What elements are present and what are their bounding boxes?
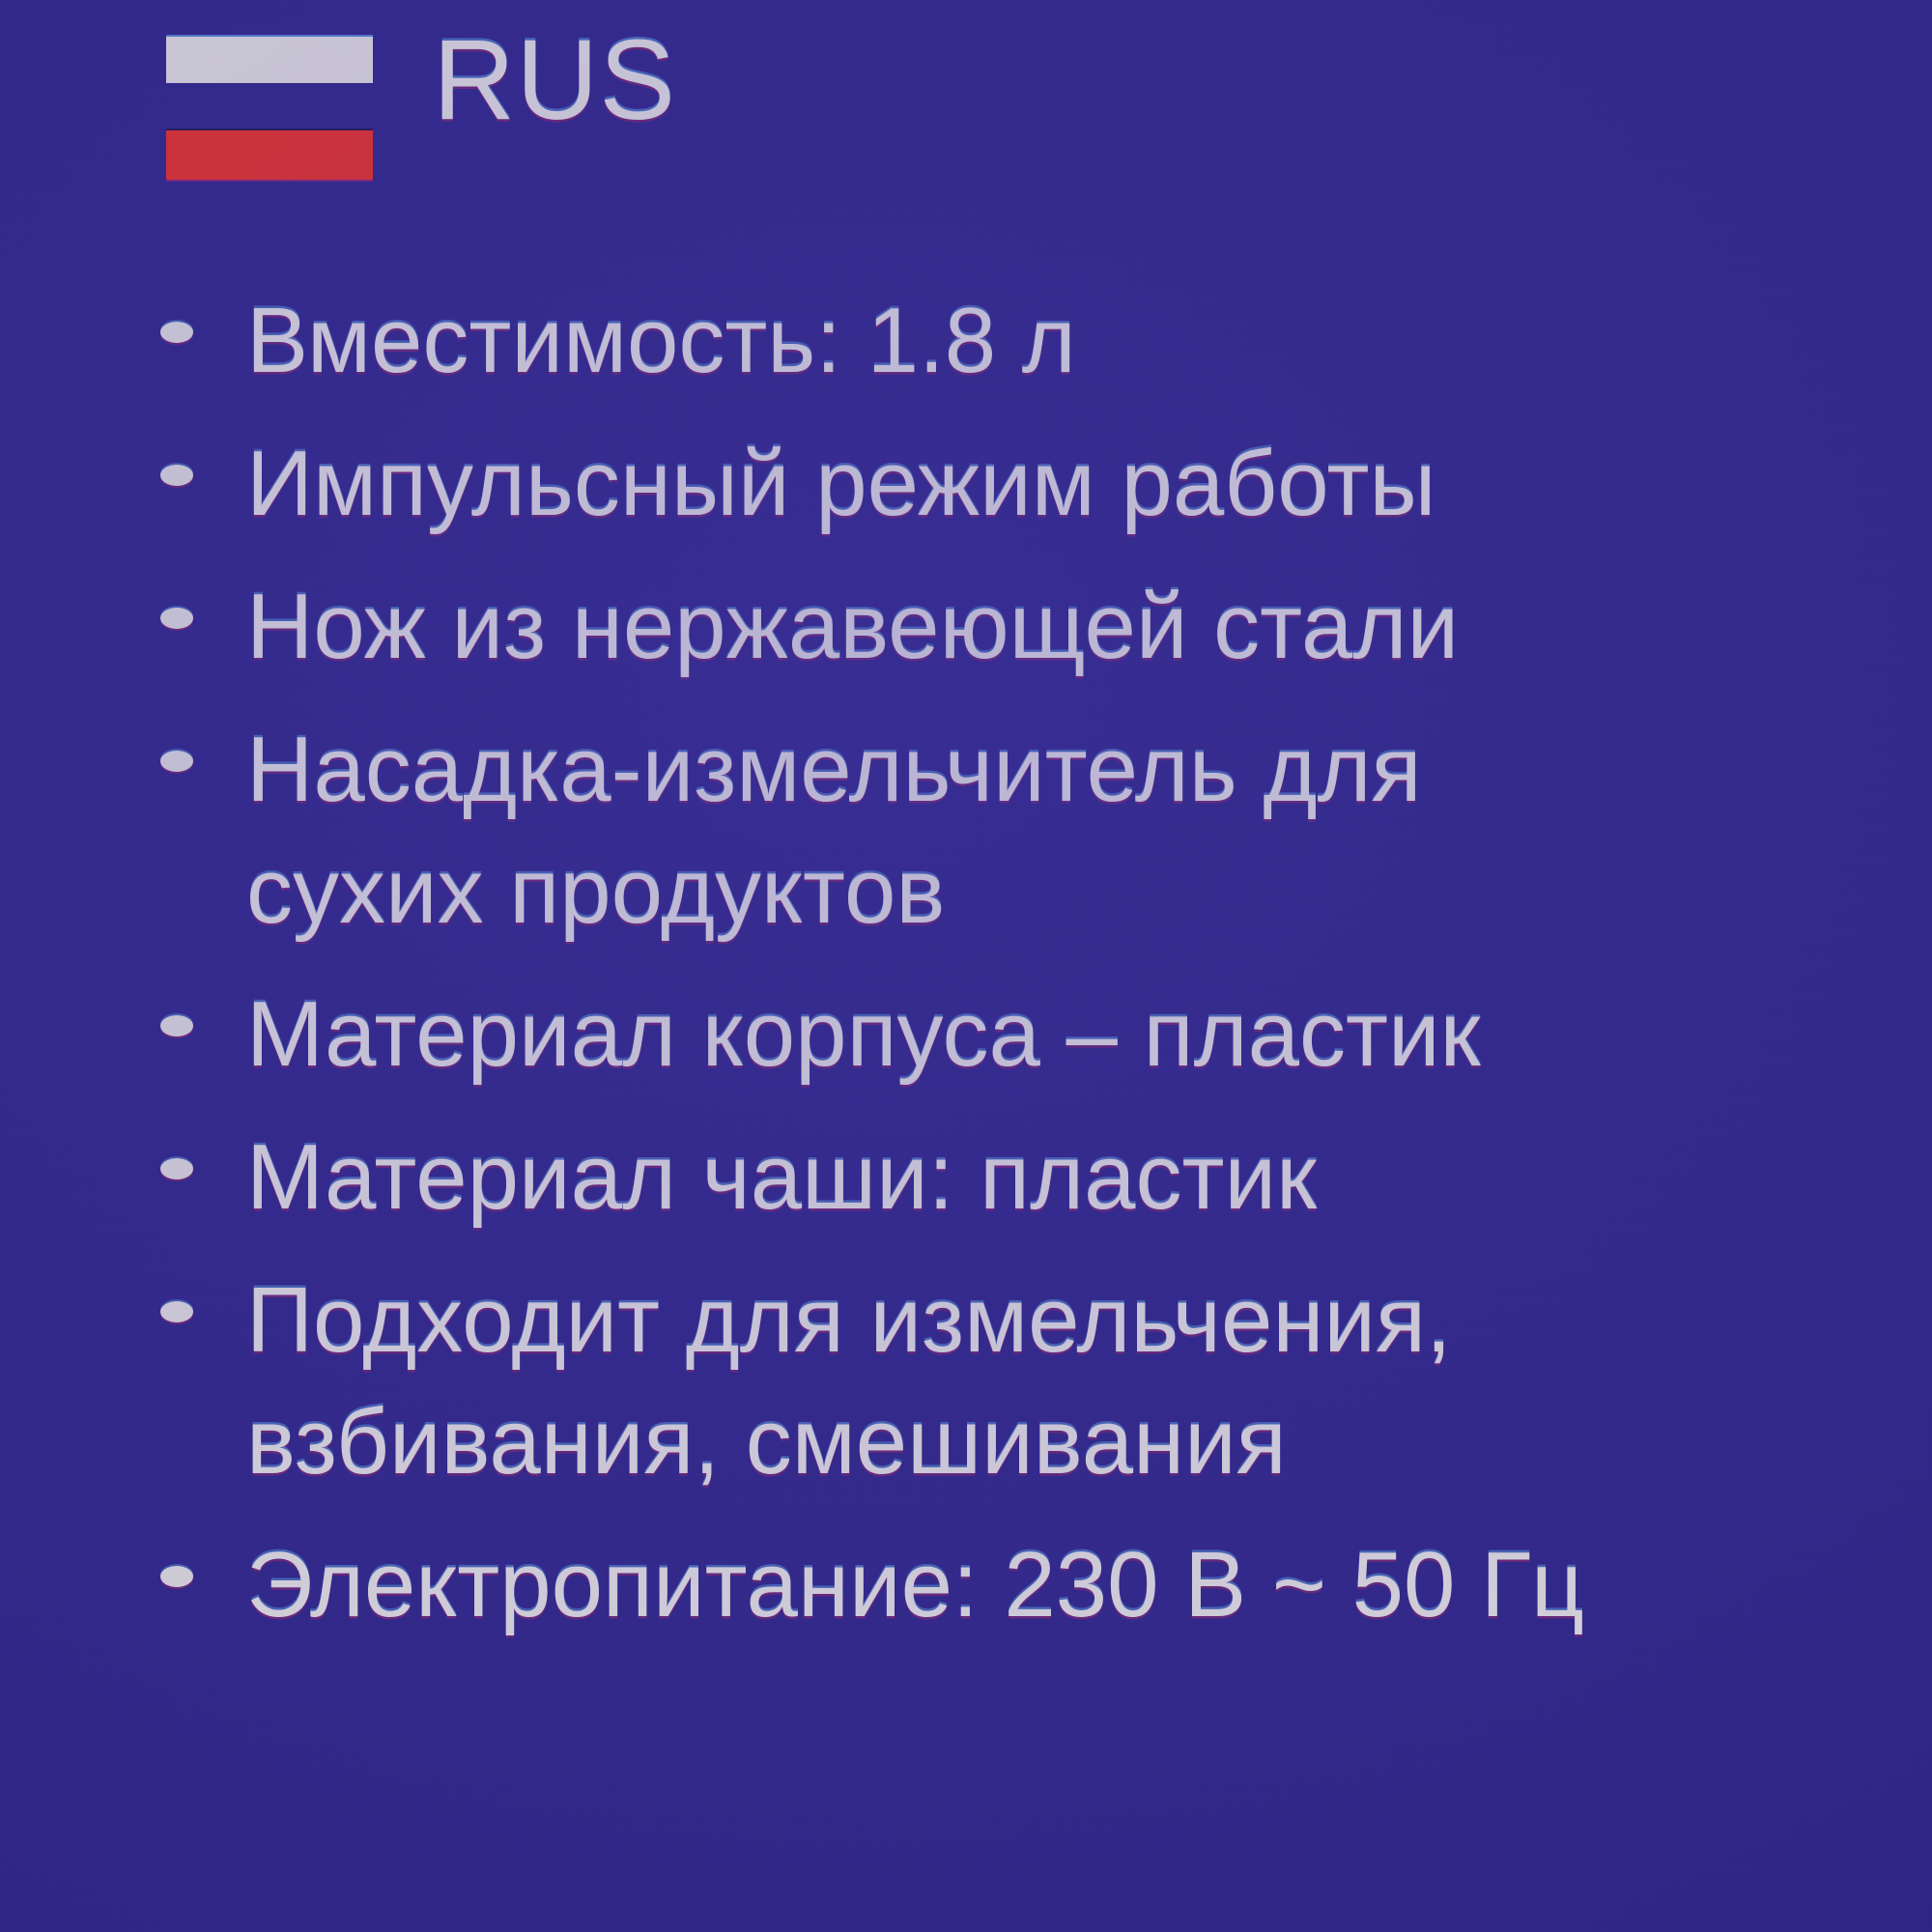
- bullet-icon: [160, 465, 193, 486]
- spec-line: Материал чаши: пластик: [246, 1117, 1932, 1238]
- bullet-icon: [160, 1015, 193, 1037]
- bullet-icon: [160, 1566, 193, 1587]
- spec-line: Нож из нержавеющей стали: [246, 566, 1932, 688]
- spec-line: Импульсный режим работы: [246, 423, 1932, 545]
- flag-red-stripe: [166, 130, 373, 180]
- list-item: Вместимость: 1.8 л: [0, 280, 1932, 402]
- list-item: Насадка-измельчитель для сухих продуктов: [0, 709, 1932, 952]
- list-item: Импульсный режим работы: [0, 423, 1932, 545]
- country-code-label: RUS: [433, 23, 676, 137]
- bullet-icon: [160, 1301, 193, 1322]
- bullet-icon: [160, 1158, 193, 1179]
- spec-line: сухих продуктов: [246, 831, 1932, 952]
- spec-line: Подходит для измельчения,: [246, 1260, 1932, 1381]
- bullet-icon: [160, 751, 193, 772]
- spec-line: Электропитание: 230 В ~ 50 Гц: [246, 1524, 1932, 1646]
- spec-line: Вместимость: 1.8 л: [246, 280, 1932, 402]
- flag-white-stripe: [166, 37, 373, 83]
- list-item: Нож из нержавеющей стали: [0, 566, 1932, 688]
- language-header: RUS: [0, 0, 1932, 203]
- flag-blue-stripe: [166, 83, 373, 130]
- russia-flag-icon: [166, 37, 373, 180]
- specification-list: Вместимость: 1.8 л Импульсный режим рабо…: [0, 280, 1932, 1667]
- list-item: Материал чаши: пластик: [0, 1117, 1932, 1238]
- list-item: Материал корпуса – пластик: [0, 974, 1932, 1095]
- list-item: Электропитание: 230 В ~ 50 Гц: [0, 1524, 1932, 1646]
- spec-line: Материал корпуса – пластик: [246, 974, 1932, 1095]
- spec-line: взбивания, смешивания: [246, 1381, 1932, 1503]
- bullet-icon: [160, 322, 193, 343]
- bullet-icon: [160, 608, 193, 629]
- list-item: Подходит для измельчения, взбивания, сме…: [0, 1260, 1932, 1503]
- spec-line: Насадка-измельчитель для: [246, 709, 1932, 831]
